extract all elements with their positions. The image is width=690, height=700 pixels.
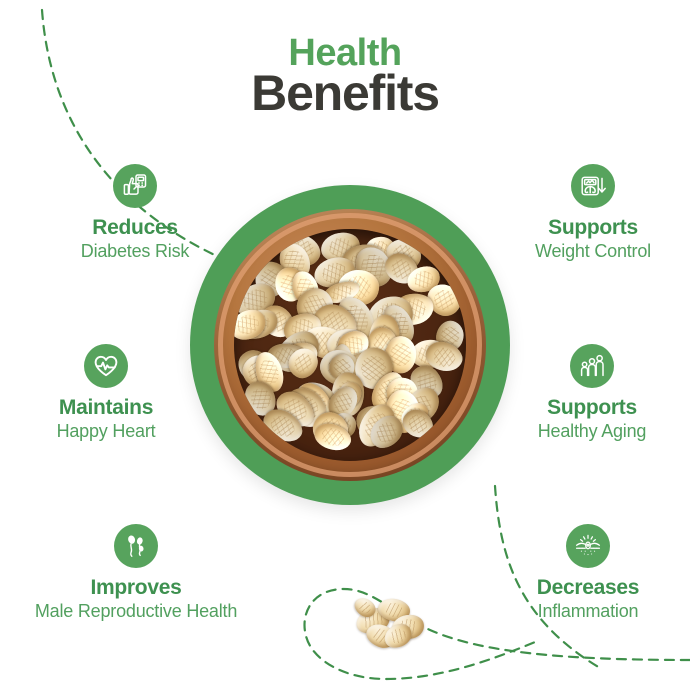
benefit-subtitle: Happy Heart (0, 421, 221, 442)
page-title: Health Benefits (0, 34, 690, 118)
three-people-growth-icon (570, 344, 614, 388)
skin-inflammation-icon (566, 524, 610, 568)
benefit-title: Reduces (20, 217, 250, 239)
weight-scale-down-arrow-icon (571, 164, 615, 208)
thumbs-up-glucose-meter-icon (113, 164, 157, 208)
heart-heartbeat-icon (84, 344, 128, 388)
benefit-item-diabetes: Reduces Diabetes Risk (20, 164, 250, 262)
benefit-subtitle: Male Reproductive Health (21, 601, 251, 622)
benefit-subtitle: Diabetes Risk (20, 241, 250, 262)
benefit-title: Improves (21, 577, 251, 599)
benefit-item-aging: Supports Healthy Aging (477, 344, 690, 442)
infographic-canvas: Health Benefits Reduces (0, 0, 690, 700)
benefit-title: Supports (477, 397, 690, 419)
benefit-subtitle: Inflammation (473, 601, 690, 622)
benefit-title: Decreases (473, 577, 690, 599)
sperm-cells-icon (114, 524, 158, 568)
benefit-item-inflammation: Decreases Inflammation (473, 524, 690, 622)
bowl-interior (234, 229, 466, 461)
benefit-subtitle: Healthy Aging (477, 421, 690, 442)
benefit-item-heart: Maintains Happy Heart (0, 344, 221, 442)
benefit-item-reproductive: Improves Male Reproductive Health (21, 524, 251, 622)
benefit-subtitle: Weight Control (478, 241, 690, 262)
benefit-title: Maintains (0, 397, 221, 419)
benefit-item-weight: Supports Weight Control (478, 164, 690, 262)
benefit-title: Supports (478, 217, 690, 239)
title-line-benefits: Benefits (0, 68, 690, 118)
walnut-cluster-image (352, 595, 430, 651)
